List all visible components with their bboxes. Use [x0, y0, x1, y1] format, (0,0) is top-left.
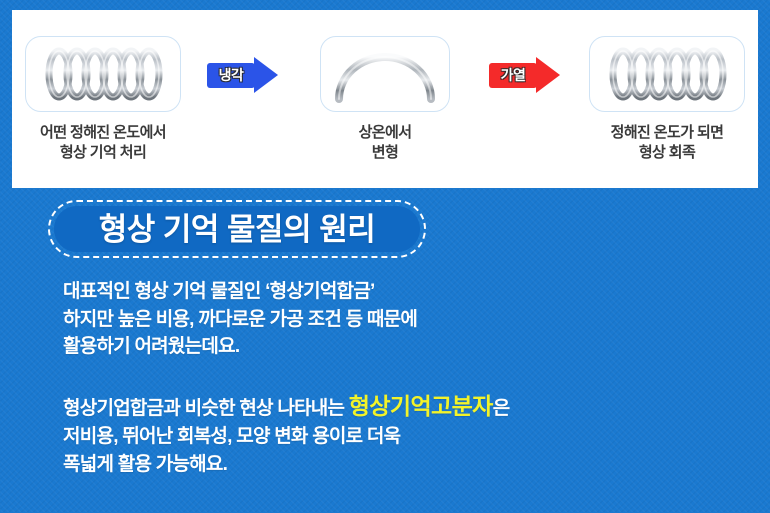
paragraph-1: 대표적인 형상 기억 물질인 ‘형상기억합금’ 하지만 높은 비용, 까다로운 …	[63, 278, 753, 361]
page-title: 형상 기억 물질의 원리	[99, 214, 376, 245]
heating-arrow-tail: 가열	[489, 63, 537, 88]
paragraph-2: 형상기업합금과 비슷한 현상 나타내는 형상기억고분자은 저비용, 뛰어난 회복…	[63, 390, 753, 478]
arrow-slot-1: 냉각	[203, 36, 285, 93]
paragraph-2-prefix: 형상기업합금과 비슷한 현상 나타내는	[63, 398, 349, 419]
spring-image-frame-2	[589, 36, 745, 112]
body-copy: 대표적인 형상 기억 물질인 ‘형상기억합금’ 하지만 높은 비용, 까다로운 …	[63, 278, 753, 478]
section-title-dashed-border: 형상 기억 물질의 원리	[48, 200, 426, 258]
process-row: 어떤 정해진 온도에서 형상 기억 처리 냉각	[12, 36, 758, 162]
section-title-pill: 형상 기억 물질의 원리	[54, 206, 420, 252]
cooling-arrow-label: 냉각	[219, 68, 244, 82]
process-stage-3: 정해진 온도가 되면 형상 회족	[567, 36, 767, 162]
heating-arrow-label: 가열	[501, 68, 526, 82]
cooling-arrow-head	[254, 57, 278, 93]
process-stage-2: 상온에서 변형	[285, 36, 485, 162]
spring-image-frame-1	[25, 36, 181, 112]
process-stage-1: 어떤 정해진 온도에서 형상 기억 처리	[3, 36, 203, 162]
process-stage-3-caption: 정해진 온도가 되면 형상 회족	[611, 123, 724, 162]
heating-arrow-head	[536, 57, 560, 93]
process-stage-1-caption: 어떤 정해진 온도에서 형상 기억 처리	[40, 123, 166, 162]
arrow-slot-2: 가열	[485, 36, 567, 93]
cooling-arrow-tail: 냉각	[207, 63, 255, 88]
heating-arrow: 가열	[489, 57, 563, 93]
process-stage-2-caption: 상온에서 변형	[359, 123, 412, 162]
wire-image-frame	[320, 36, 450, 112]
coil-spring-icon	[33, 42, 173, 106]
coil-spring-icon	[597, 42, 737, 106]
highlighted-term: 형상기억고분자	[349, 393, 493, 419]
bent-wire-arc-icon	[327, 43, 443, 105]
infographic-root: 어떤 정해진 온도에서 형상 기억 처리 냉각	[0, 0, 770, 513]
process-panel: 어떤 정해진 온도에서 형상 기억 처리 냉각	[12, 10, 758, 188]
cooling-arrow: 냉각	[207, 57, 281, 93]
